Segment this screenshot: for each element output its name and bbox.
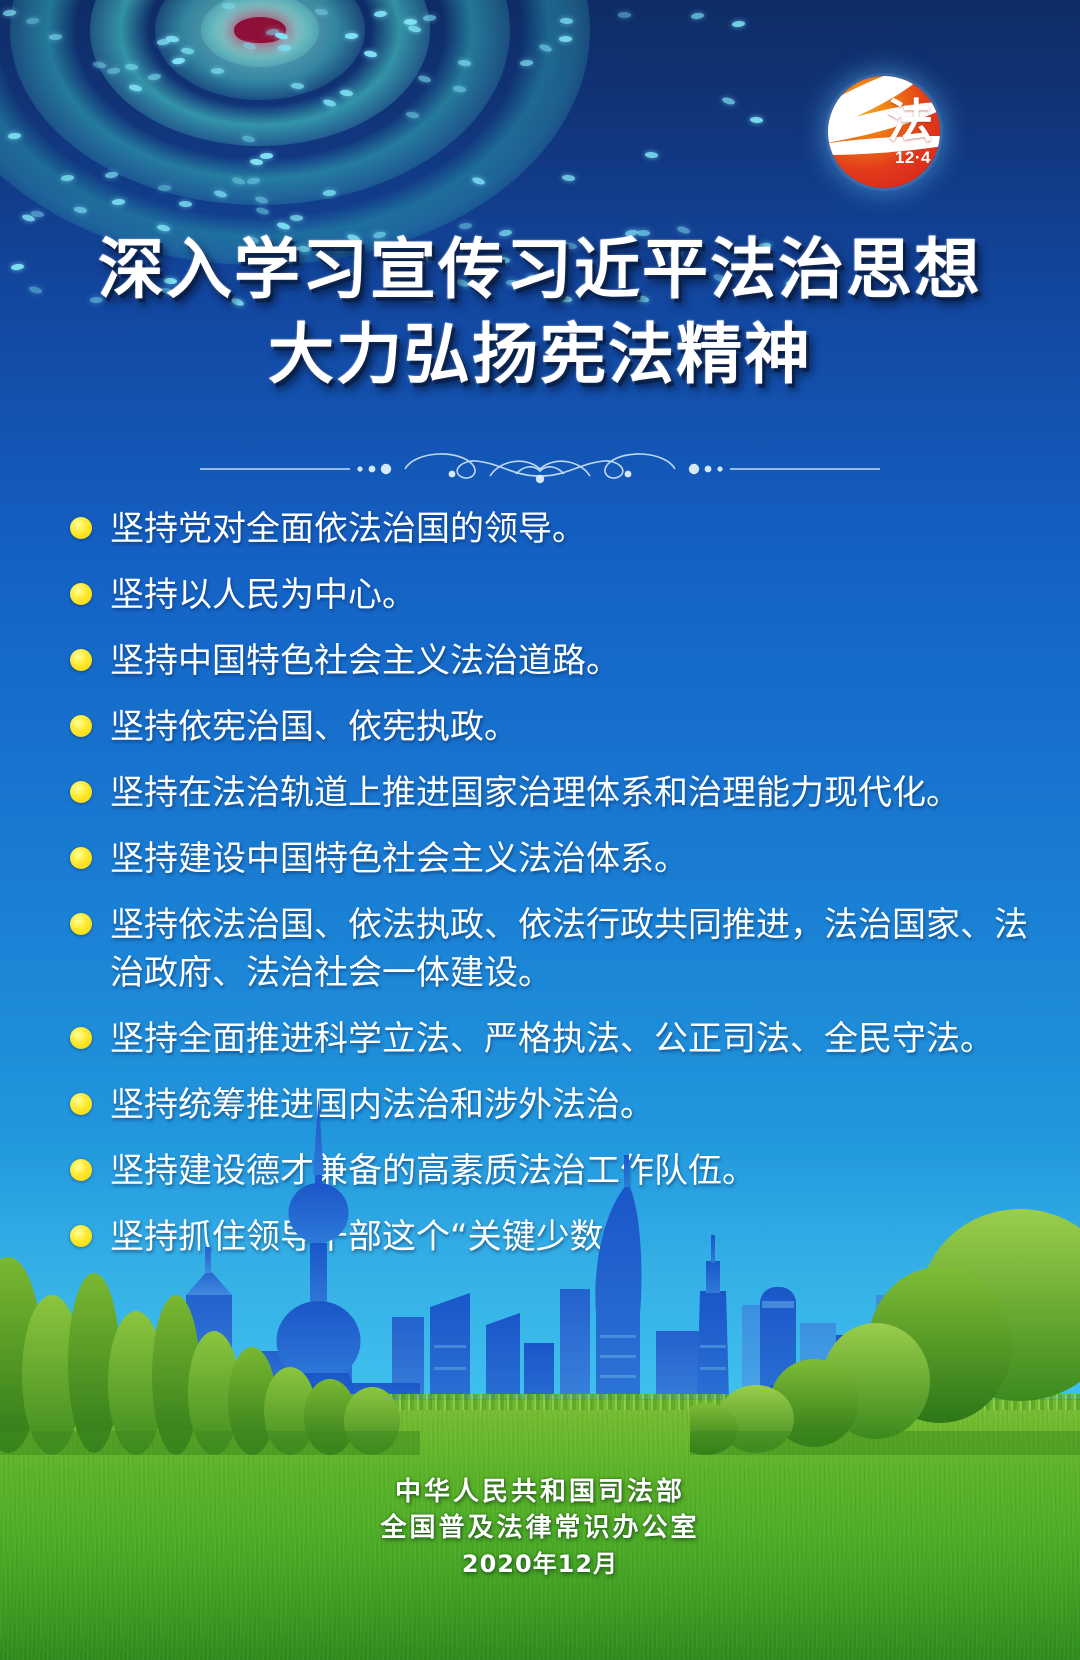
logo-date-label: 12·4 — [895, 149, 931, 166]
bullet-dot-icon — [70, 715, 92, 737]
footer-ministry: 中华人民共和国司法部 — [0, 1474, 1080, 1510]
principle-text: 坚持在法治轨道上推进国家治理体系和治理能力现代化。 — [110, 769, 960, 817]
principle-item: 坚持建设中国特色社会主义法治体系。 — [70, 835, 1030, 883]
principle-item: 坚持在法治轨道上推进国家治理体系和治理能力现代化。 — [70, 769, 1030, 817]
footer-date: 2020年12月 — [0, 1546, 1080, 1582]
bullet-dot-icon — [70, 649, 92, 671]
principle-text: 坚持中国特色社会主义法治道路。 — [110, 637, 620, 685]
constitution-day-logo: 法 12·4 — [828, 76, 940, 188]
bullet-dot-icon — [70, 583, 92, 605]
poster-title: 深入学习宣传习近平法治思想 大力弘扬宪法精神 — [0, 228, 1080, 398]
principle-item: 坚持以人民为中心。 — [70, 571, 1030, 619]
title-line-2: 大力弘扬宪法精神 — [0, 312, 1080, 398]
trees-right-decoration — [690, 1195, 1080, 1455]
trees-left-decoration — [0, 1225, 420, 1455]
filigree-divider-ornament-icon — [200, 438, 880, 484]
bullet-dot-icon — [70, 781, 92, 803]
principle-item: 坚持党对全面依法治国的领导。 — [70, 505, 1030, 553]
poster-root: 法 12·4 深入学习宣传习近平法治思想 大力弘扬宪法精神 — [0, 0, 1080, 1660]
bullet-dot-icon — [70, 847, 92, 869]
footer-office: 全国普及法律常识办公室 — [0, 1510, 1080, 1546]
principle-text: 坚持以人民为中心。 — [110, 571, 416, 619]
poster-footer: 中华人民共和国司法部 全国普及法律常识办公室 2020年12月 — [0, 1474, 1080, 1582]
principle-text: 坚持依法治国、依法执政、依法行政共同推进，法治国家、法治政府、法治社会一体建设。 — [110, 901, 1030, 997]
principle-item: 坚持依法治国、依法执政、依法行政共同推进，法治国家、法治政府、法治社会一体建设。 — [70, 901, 1030, 997]
bullet-dot-icon — [70, 913, 92, 935]
principle-item: 坚持依宪治国、依宪执政。 — [70, 703, 1030, 751]
logo-fa-character: 法 — [887, 98, 933, 144]
title-line-1: 深入学习宣传习近平法治思想 — [0, 228, 1080, 312]
bullet-dot-icon — [70, 517, 92, 539]
principle-text: 坚持建设中国特色社会主义法治体系。 — [110, 835, 688, 883]
principle-text: 坚持党对全面依法治国的领导。 — [110, 505, 586, 553]
principle-text: 坚持依宪治国、依宪执政。 — [110, 703, 518, 751]
bullet-dot-icon — [70, 1027, 92, 1049]
principle-item: 坚持中国特色社会主义法治道路。 — [70, 637, 1030, 685]
